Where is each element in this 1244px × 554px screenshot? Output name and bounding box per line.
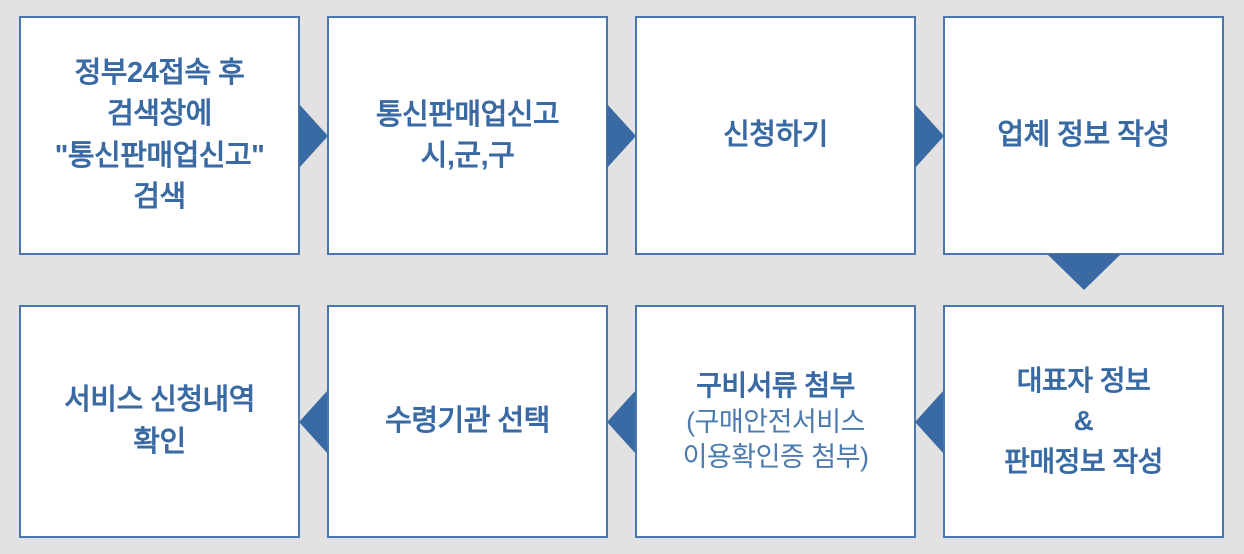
- connector-1-to-2-arrow-icon: [299, 104, 328, 168]
- connector-6-to-7-arrow-icon: [607, 390, 636, 454]
- step-box-representative-sales-info[interactable]: 대표자 정보 & 판매정보 작성: [943, 305, 1224, 538]
- connector-4-to-5-arrow-icon: [1047, 254, 1121, 290]
- step-box-select-service[interactable]: 통신판매업신고 시,군,구: [327, 16, 608, 255]
- step-box-confirm-application[interactable]: 서비스 신청내역 확인: [19, 305, 300, 538]
- step-box-business-info[interactable]: 업체 정보 작성: [943, 16, 1224, 255]
- step-label-attach-documents: 구비서류 첨부 (구매안전서비스 이용확인증 첨부): [677, 368, 875, 475]
- step-box-gov24-search[interactable]: 정부24접속 후 검색창에 "통신판매업신고" 검색: [19, 16, 300, 255]
- step-label-representative-sales-info: 대표자 정보 & 판매정보 작성: [998, 361, 1169, 483]
- step-label-apply: 신청하기: [717, 117, 834, 154]
- step-box-apply[interactable]: 신청하기: [635, 16, 916, 255]
- step-label-business-info: 업체 정보 작성: [991, 117, 1175, 154]
- flowchart-canvas: 정부24접속 후 검색창에 "통신판매업신고" 검색 통신판매업신고 시,군,구…: [0, 0, 1244, 554]
- connector-7-to-8-arrow-icon: [299, 390, 328, 454]
- connector-5-to-6-arrow-icon: [915, 390, 944, 454]
- step-label-select-service: 통신판매업신고 시,군,구: [370, 95, 565, 176]
- step-label-select-receiving-agency: 수령기관 선택: [379, 403, 556, 440]
- step-label-confirm-application: 서비스 신청내역 확인: [58, 380, 261, 462]
- step-box-select-receiving-agency[interactable]: 수령기관 선택: [327, 305, 608, 538]
- step-box-attach-documents[interactable]: 구비서류 첨부 (구매안전서비스 이용확인증 첨부): [635, 305, 916, 538]
- step-label-gov24-search: 정부24접속 후 검색창에 "통신판매업신고" 검색: [49, 53, 271, 218]
- connector-3-to-4-arrow-icon: [915, 104, 944, 168]
- connector-2-to-3-arrow-icon: [607, 104, 636, 168]
- attach-documents-note: (구매안전서비스 이용확인증 첨부): [683, 405, 869, 475]
- attach-documents-title: 구비서류 첨부: [683, 368, 869, 404]
